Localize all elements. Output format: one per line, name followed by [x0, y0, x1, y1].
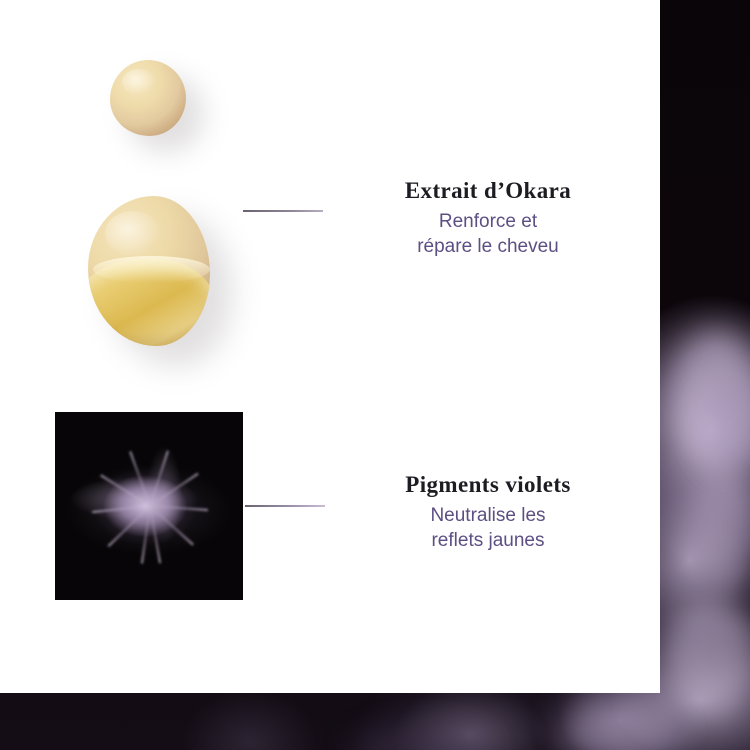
smoke-wisp-icon: [700, 380, 750, 470]
connector-line-pigments: [245, 505, 325, 507]
smoke-wisp-icon: [560, 706, 680, 750]
ingredient-callout-graphic: Extrait d’Okara Renforce et répare le ch…: [0, 0, 750, 750]
oil-drop-edge: [93, 256, 210, 283]
callout-okara-subtitle-line-1: Renforce et: [358, 209, 618, 234]
smoke-wisp-icon: [672, 330, 750, 470]
callout-pigments: Pigments violets Neutralise les reflets …: [358, 472, 618, 553]
smoke-wisp-icon: [350, 726, 490, 750]
white-content-card: Extrait d’Okara Renforce et répare le ch…: [0, 0, 660, 693]
callout-pigments-title: Pigments violets: [358, 472, 618, 497]
callout-okara-title: Extrait d’Okara: [358, 178, 618, 203]
highlight-gloss: [105, 211, 161, 256]
callout-okara: Extrait d’Okara Renforce et répare le ch…: [358, 178, 618, 259]
violet-pigment-burst-image: [55, 412, 243, 600]
smoke-wisp-icon: [688, 470, 750, 590]
connector-line-okara: [243, 210, 323, 212]
callout-pigments-subtitle-line-2: reflets jaunes: [358, 528, 618, 553]
callout-pigments-subtitle-line-1: Neutralise les: [358, 503, 618, 528]
callout-okara-subtitle-line-2: répare le cheveu: [358, 234, 618, 259]
okara-sphere-small-image: [110, 60, 186, 136]
pigment-ray-icon: [150, 505, 208, 511]
smoke-wisp-icon: [664, 600, 750, 710]
okara-sphere-large-image: [88, 196, 210, 346]
